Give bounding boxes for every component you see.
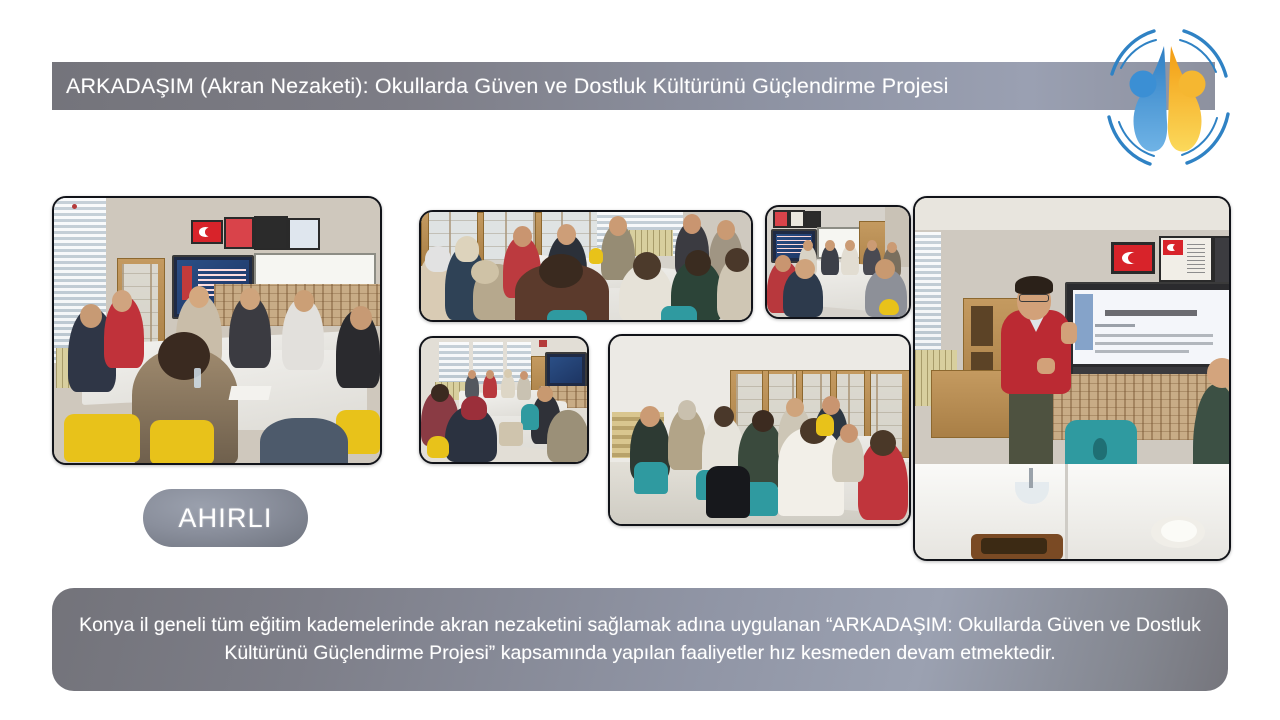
location-badge: AHIRLI (143, 489, 308, 547)
description-text: Konya il geneli tüm eğitim kademelerinde… (74, 612, 1206, 667)
activity-photo-5 (608, 334, 911, 526)
page-title: ARKADAŞIM (Akran Nezaketi): Okullarda Gü… (52, 74, 949, 99)
location-badge-label: AHIRLI (178, 503, 272, 534)
activity-photo-3 (765, 205, 911, 319)
slide-title-bar: ARKADAŞIM (Akran Nezaketi): Okullarda Gü… (52, 62, 1215, 110)
activity-photo-1 (52, 196, 382, 465)
activity-photo-2 (419, 210, 753, 322)
activity-photo-6 (913, 196, 1231, 561)
description-banner: Konya il geneli tüm eğitim kademelerinde… (52, 588, 1228, 691)
arkadasim-logo-icon (1080, 18, 1255, 178)
activity-photo-4 (419, 336, 589, 464)
